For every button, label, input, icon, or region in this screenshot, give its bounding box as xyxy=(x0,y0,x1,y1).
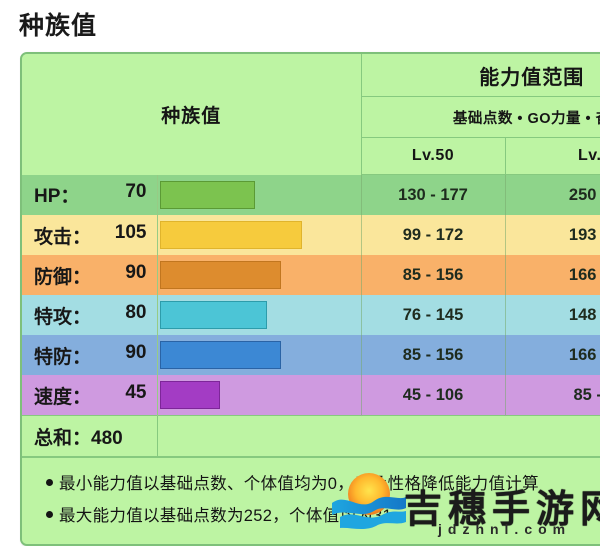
bullet-icon xyxy=(46,479,53,486)
stat-value: 70 xyxy=(125,181,146,203)
stat-bar xyxy=(160,341,282,369)
header-range-subtitle: 基础点数 • GO力量 • 奋 xyxy=(361,97,600,138)
stat-range-lv50: 85 - 156 xyxy=(361,335,505,375)
total-bar-cell xyxy=(157,416,361,458)
notes-container: 最小能力值以基础点数、个体值均为0，以及性格降低能力值计算 最大能力值以基础点数… xyxy=(22,457,600,544)
table-row: HP： 70 130 - 177 250 - 344 xyxy=(22,175,600,216)
header-range-title: 能力值范围 xyxy=(361,54,600,97)
base-stats-table: 种族值 能力值范围 基础点数 • GO力量 • 奋 Lv.50 Lv.100 H… xyxy=(20,52,600,546)
stat-value: 90 xyxy=(125,342,146,364)
table-header-row-title: 种族值 能力值范围 xyxy=(22,54,600,97)
stat-name: 攻击： xyxy=(34,222,91,249)
header-level-100: Lv.100 xyxy=(505,138,600,175)
stat-range-lv50: 99 - 172 xyxy=(361,215,505,255)
total-label-cell: 总和：480 xyxy=(22,416,157,458)
stat-label-cell: 速度： 45 xyxy=(22,375,157,416)
stat-range-lv100: 193 - 339 xyxy=(505,215,600,255)
stat-range-lv100: 148 - 284 xyxy=(505,295,600,335)
stat-bar-cell xyxy=(157,255,361,295)
note-text: 最小能力值以基础点数、个体值均为0，以及性格降低能力值计算 xyxy=(59,475,539,493)
header-stats-label: 种族值 xyxy=(22,54,361,175)
total-value: 480 xyxy=(91,428,123,449)
note-text: 最大能力值以基础点数为252，个体值均为31 xyxy=(59,507,392,525)
stat-bar xyxy=(160,301,268,329)
table-row: 防御： 90 85 - 156 166 - 306 xyxy=(22,255,600,295)
stat-range-lv50: 130 - 177 xyxy=(361,175,505,216)
stat-bar-cell xyxy=(157,215,361,255)
stats-table-body: 种族值 能力值范围 基础点数 • GO力量 • 奋 Lv.50 Lv.100 H… xyxy=(22,54,600,544)
table-row: 特攻： 80 76 - 145 148 - 284 xyxy=(22,295,600,335)
stat-bar xyxy=(160,381,221,409)
table-row: 特防： 90 85 - 156 166 - 306 xyxy=(22,335,600,375)
stat-label-cell: 防御： 90 xyxy=(22,255,157,295)
stat-label-cell: 特攻： 80 xyxy=(22,295,157,335)
total-lv50-cell xyxy=(361,416,505,458)
stat-range-lv100: 166 - 306 xyxy=(505,335,600,375)
table-row: 速度： 45 45 - 106 85 - 207 xyxy=(22,375,600,416)
stat-range-lv50: 76 - 145 xyxy=(361,295,505,335)
stat-value: 45 xyxy=(125,382,146,404)
stats-table-grid: 种族值 能力值范围 基础点数 • GO力量 • 奋 Lv.50 Lv.100 H… xyxy=(22,54,600,544)
note-item: 最小能力值以基础点数、个体值均为0，以及性格降低能力值计算 xyxy=(22,468,600,500)
header-level-50: Lv.50 xyxy=(361,138,505,175)
table-notes-row: 最小能力值以基础点数、个体值均为0，以及性格降低能力值计算 最大能力值以基础点数… xyxy=(22,457,600,544)
note-item: 最大能力值以基础点数为252，个体值均为31 xyxy=(22,500,600,532)
stat-value: 105 xyxy=(115,222,147,244)
stat-value: 90 xyxy=(125,262,146,284)
stat-bar xyxy=(160,261,282,289)
stat-label-cell: HP： 70 xyxy=(22,175,157,216)
stat-name: 速度： xyxy=(34,382,91,409)
stat-name: 特防： xyxy=(34,342,91,369)
total-label: 总和： xyxy=(34,428,91,449)
stat-value: 80 xyxy=(125,302,146,324)
stat-name: 特攻： xyxy=(34,302,91,329)
stat-range-lv50: 45 - 106 xyxy=(361,375,505,416)
stat-bar-cell xyxy=(157,295,361,335)
table-total-row: 总和：480 xyxy=(22,416,600,458)
stat-name: HP： xyxy=(34,181,79,208)
stat-name: 防御： xyxy=(34,262,91,289)
stat-range-lv100: 250 - 344 xyxy=(505,175,600,216)
stat-bar xyxy=(160,181,255,209)
stat-label-cell: 攻击： 105 xyxy=(22,215,157,255)
bullet-icon xyxy=(46,511,53,518)
total-lv100-cell xyxy=(505,416,600,458)
page-title: 种族值 xyxy=(19,11,97,41)
stat-bar-cell xyxy=(157,175,361,216)
stat-bar xyxy=(160,221,302,249)
table-row: 攻击： 105 99 - 172 193 - 339 xyxy=(22,215,600,255)
stat-range-lv100: 166 - 306 xyxy=(505,255,600,295)
stat-bar-cell xyxy=(157,375,361,416)
stat-range-lv100: 85 - 207 xyxy=(505,375,600,416)
stat-label-cell: 特防： 90 xyxy=(22,335,157,375)
stat-range-lv50: 85 - 156 xyxy=(361,255,505,295)
stat-bar-cell xyxy=(157,335,361,375)
